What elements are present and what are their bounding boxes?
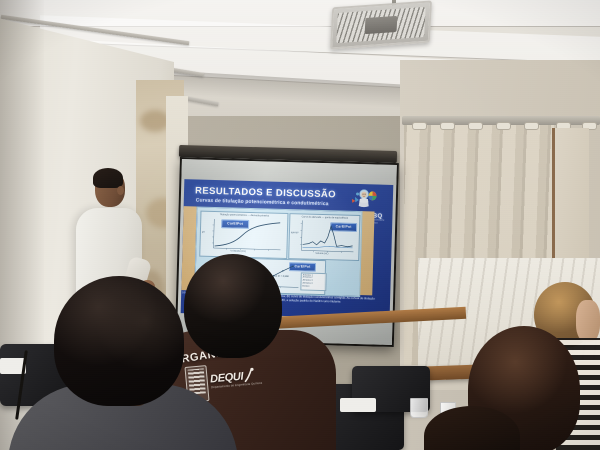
chart-ylabel: dpH/dV bbox=[291, 232, 299, 234]
foreground-person-hair bbox=[54, 276, 184, 406]
organizer-hair bbox=[184, 254, 282, 358]
ersbq-mascot-icon bbox=[349, 187, 380, 212]
vent-core bbox=[364, 15, 397, 34]
audience-member-face bbox=[576, 300, 600, 342]
chart-legend: Amostra 1 Amostra 2 Amostra 3 Amostra 4 … bbox=[300, 272, 326, 290]
desk-tablet bbox=[340, 398, 376, 412]
curtain-grommet bbox=[468, 122, 483, 130]
presenter-hair bbox=[93, 168, 123, 188]
ac-diffuser-vent-icon bbox=[330, 0, 432, 49]
chart-ylabel: pH bbox=[202, 232, 205, 234]
chart-xlabel: Volume (mL) bbox=[315, 253, 328, 255]
plastic-cup[interactable] bbox=[410, 398, 428, 418]
dequi-swoosh-icon bbox=[242, 368, 255, 384]
curtain-grommet bbox=[496, 122, 511, 130]
chart-xlabel: V titulante (mL) bbox=[230, 250, 246, 252]
legend-item: Branco bbox=[302, 286, 324, 290]
presenter-ear bbox=[117, 186, 124, 195]
curtain-grommet bbox=[524, 122, 539, 130]
curtain-grommet bbox=[412, 122, 427, 130]
chart-potentiometric: Titulação potenciométrica — derivada pri… bbox=[199, 211, 288, 259]
curtain-grommet bbox=[440, 122, 455, 130]
presentation-room-photo: RESULTADOS E DISCUSSÃO Curvas de titulaç… bbox=[0, 0, 600, 450]
chart-derivative: Curva da derivada — ponto de equivalênci… bbox=[288, 213, 360, 261]
